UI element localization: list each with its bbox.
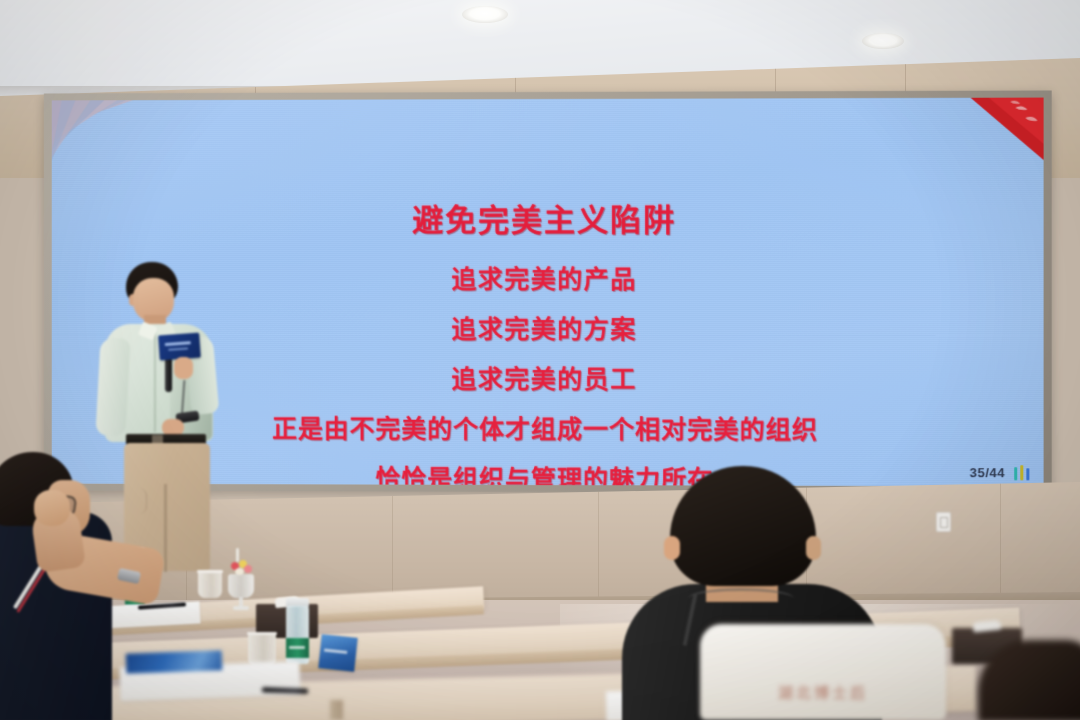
ceiling-downlight-1 [462, 6, 508, 23]
audience-center-ear-right [806, 536, 821, 560]
presenter-hand-holding-mic [174, 357, 193, 379]
wall-power-socket [936, 512, 951, 532]
audience-center-ear-left [664, 536, 680, 560]
audience-center-hair [670, 466, 816, 586]
fan-decoration-icon [52, 100, 161, 192]
tissue-sheet-right [973, 620, 1002, 633]
table-leg-2 [330, 700, 343, 720]
audience-member-left [0, 452, 172, 720]
slide-footer: 35/44 [970, 464, 1030, 480]
ceiling-downlight-2 [862, 33, 904, 49]
audience-center-collar [688, 588, 794, 609]
dessert-cup [228, 560, 254, 598]
slide-decor-bars-icon [1014, 464, 1029, 480]
name-card-tent [318, 634, 357, 672]
presenter-left-arm [95, 337, 130, 436]
paper-cup-far [198, 570, 222, 598]
presentation-photo-scene: 避免完美主义陷阱 追求完美的产品 追求完美的方案 追求完美的员工 正是由不完美的… [0, 0, 1080, 720]
dessert-stick [236, 548, 239, 562]
audience-left-hand [34, 490, 70, 526]
water-bottle-mid [286, 598, 309, 664]
red-ribbon-decoration-icon [963, 98, 1044, 169]
dessert-topping-pink [244, 565, 252, 573]
chair-with-cover: 湖北博士后 [700, 624, 946, 720]
slide-page-indicator: 35/44 [970, 465, 1006, 480]
dessert-topping-cream [235, 568, 244, 575]
slide-title: 避免完美主义陷阱 [52, 194, 1044, 240]
presenter-shirt-placket [154, 332, 156, 432]
chair-cover-text: 湖北博士后 [700, 682, 946, 703]
